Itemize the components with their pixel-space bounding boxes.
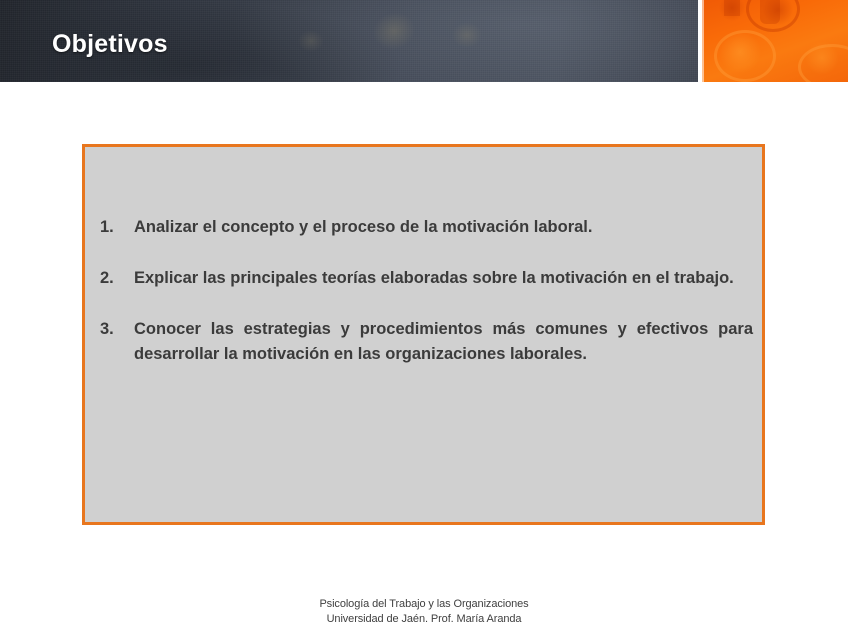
list-item: 3. Conocer las estrategias y procedimien… (100, 317, 755, 367)
page-title: Objetivos (52, 30, 168, 59)
accent-bar-icon (724, 0, 740, 16)
objective-text: Conocer las estrategias y procedimientos… (134, 317, 755, 367)
objective-number: 1. (100, 215, 134, 240)
objective-text: Explicar las principales teorías elabora… (134, 266, 755, 291)
footer-course-name: Psicología del Trabajo y las Organizacio… (0, 597, 848, 612)
slide-footer: Psicología del Trabajo y las Organizacio… (0, 597, 848, 627)
accent-bar-icon (760, 0, 780, 24)
accent-ring-icon (714, 30, 776, 82)
header-smudge-icon (452, 22, 482, 48)
header-smudge-icon (298, 30, 324, 52)
footer-institution: Universidad de Jaén. Prof. María Aranda (0, 612, 848, 627)
objective-number: 3. (100, 317, 134, 342)
header-smudge-icon (368, 7, 421, 56)
accent-ring-icon (798, 44, 848, 82)
header-accent-block (702, 0, 848, 82)
list-item: 1. Analizar el concepto y el proceso de … (100, 215, 755, 240)
list-item: 2. Explicar las principales teorías elab… (100, 266, 755, 291)
objectives-list: 1. Analizar el concepto y el proceso de … (100, 215, 755, 367)
objective-number: 2. (100, 266, 134, 291)
objective-text: Analizar el concepto y el proceso de la … (134, 215, 755, 240)
objectives-content-box: 1. Analizar el concepto y el proceso de … (82, 144, 765, 525)
